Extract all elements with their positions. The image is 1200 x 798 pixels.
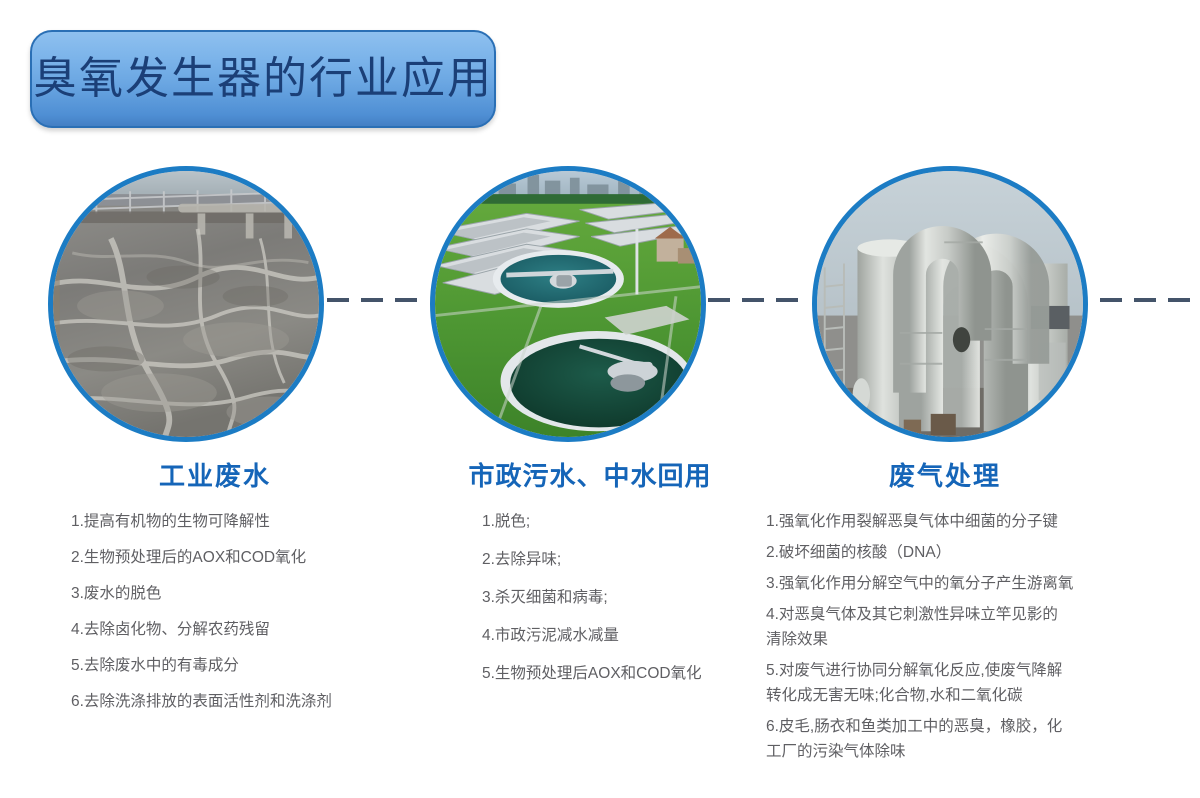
list-item: 1.强氧化作用裂解恶臭气体中细菌的分子键 bbox=[752, 509, 1145, 534]
list-item: 1.脱色; bbox=[468, 509, 760, 534]
list-item: 1.提高有机物的生物可降解性 bbox=[57, 509, 390, 534]
item-list-industrial-wastewater: 1.提高有机物的生物可降解性 2.生物预处理后的AOX和COD氧化 3.废水的脱… bbox=[40, 509, 390, 715]
circle-ring-2 bbox=[430, 166, 706, 442]
list-item: 4.市政污泥减水减量 bbox=[468, 623, 760, 648]
circle-ring-3 bbox=[812, 166, 1088, 442]
photo-circle-industrial-wastewater bbox=[48, 166, 324, 442]
list-item: 6.皮毛,肠衣和鱼类加工中的恶臭，橡胶，化 工厂的污染气体除味 bbox=[752, 714, 1145, 764]
list-item: 5.去除废水中的有毒成分 bbox=[57, 653, 390, 678]
page-title: 臭氧发生器的行业应用 bbox=[33, 57, 493, 101]
circle-ring-1 bbox=[48, 166, 324, 442]
list-item: 6.去除洗涤排放的表面活性剂和洗涤剂 bbox=[57, 689, 390, 714]
exhaust-gas-ducting-photo bbox=[817, 171, 1083, 437]
list-item: 3.废水的脱色 bbox=[57, 581, 390, 606]
list-item: 2.去除异味; bbox=[468, 547, 760, 572]
column-heading-municipal-sewage: 市政污水、中水回用 bbox=[420, 462, 760, 491]
column-industrial-wastewater: 工业废水 1.提高有机物的生物可降解性 2.生物预处理后的AOX和COD氧化 3… bbox=[40, 462, 390, 725]
photo-circle-municipal-sewage bbox=[430, 166, 706, 442]
column-heading-industrial-wastewater: 工业废水 bbox=[40, 462, 390, 491]
connector-dashed-line-1 bbox=[327, 298, 424, 302]
list-item: 2.生物预处理后的AOX和COD氧化 bbox=[57, 545, 390, 570]
aeration-basin-photo bbox=[53, 171, 319, 437]
list-item: 4.去除卤化物、分解农药残留 bbox=[57, 617, 390, 642]
municipal-treatment-plant-photo bbox=[435, 171, 701, 437]
list-item: 5.生物预处理后AOX和COD氧化 bbox=[468, 661, 760, 686]
list-item: 5.对废气进行协同分解氧化反应,使废气降解 转化成无害无味;化合物,水和二氧化碳 bbox=[752, 658, 1145, 708]
column-municipal-sewage: 市政污水、中水回用 1.脱色; 2.去除异味; 3.杀灭细菌和病毒; 4.市政污… bbox=[420, 462, 760, 699]
list-item: 4.对恶臭气体及其它刺激性异味立竿见影的 清除效果 bbox=[752, 602, 1145, 652]
item-list-waste-gas: 1.强氧化作用裂解恶臭气体中细菌的分子键 2.破坏细菌的核酸（DNA） 3.强氧… bbox=[745, 509, 1145, 765]
list-item: 3.强氧化作用分解空气中的氧分子产生游离氧 bbox=[752, 571, 1145, 596]
photo-circle-waste-gas bbox=[812, 166, 1088, 442]
title-banner: 臭氧发生器的行业应用 bbox=[30, 30, 496, 128]
connector-dashed-line-3 bbox=[1100, 298, 1200, 302]
connector-dashed-line-2 bbox=[708, 298, 806, 302]
list-item: 2.破坏细菌的核酸（DNA） bbox=[752, 540, 1145, 565]
list-item: 3.杀灭细菌和病毒; bbox=[468, 585, 760, 610]
item-list-municipal-sewage: 1.脱色; 2.去除异味; 3.杀灭细菌和病毒; 4.市政污泥减水减量 5.生物… bbox=[420, 509, 760, 687]
column-heading-waste-gas: 废气处理 bbox=[745, 462, 1145, 491]
column-waste-gas: 废气处理 1.强氧化作用裂解恶臭气体中细菌的分子键 2.破坏细菌的核酸（DNA）… bbox=[745, 462, 1145, 771]
